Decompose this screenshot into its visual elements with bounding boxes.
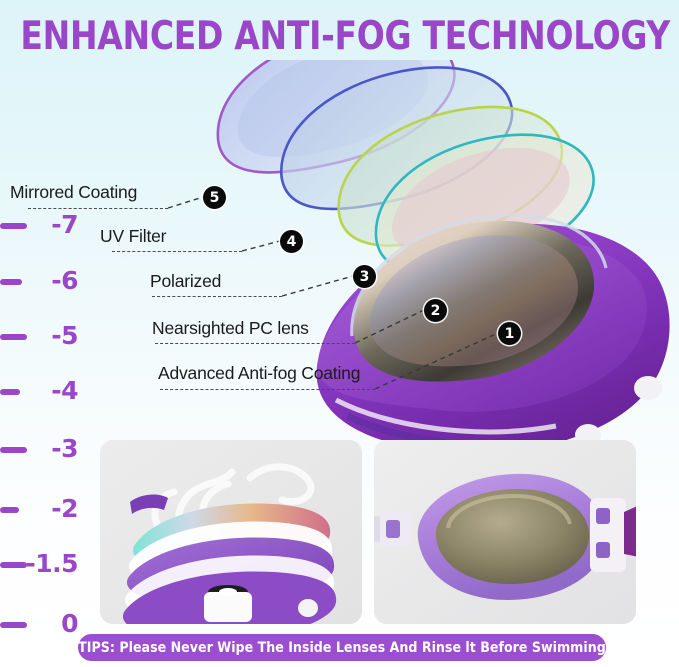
- diopter-value: -7: [0, 212, 78, 238]
- callout-leader-line: [152, 296, 282, 297]
- callout-label: UV Filter: [100, 226, 166, 247]
- diopter-value: -4: [0, 378, 78, 404]
- photo-mirrored-lens-closeup: [374, 440, 636, 624]
- tips-banner: TIPS: Please Never Wipe The Inside Lense…: [78, 634, 606, 661]
- tips-text: TIPS: Please Never Wipe The Inside Lense…: [78, 640, 606, 656]
- callout-label: Polarized: [150, 271, 221, 292]
- callout-badge-3: 3: [353, 265, 376, 288]
- callout-leader-line: [112, 251, 242, 252]
- callout-badge-4: 4: [280, 230, 303, 253]
- diopter-value: -6: [0, 268, 78, 294]
- callout-badge-1: 1: [498, 322, 521, 345]
- diopter-value: -3: [0, 436, 78, 462]
- diopter-row: -4: [0, 378, 100, 404]
- diopter-row: -1.5: [0, 551, 100, 577]
- callout-leader-line: [28, 208, 168, 209]
- diopter-row: -7: [0, 212, 100, 238]
- diopter-value: -2: [0, 496, 78, 522]
- diopter-row: -2: [0, 496, 100, 522]
- diopter-value: -5: [0, 323, 78, 349]
- callout-leader-line: [155, 343, 355, 344]
- callout-badge-5: 5: [203, 186, 226, 209]
- diopter-value: 0: [0, 611, 78, 637]
- photo-anti-fog-steam-demo: [100, 440, 362, 624]
- callout-leader-line: [160, 389, 375, 390]
- diopter-row: -6: [0, 268, 100, 294]
- page-title: ENHANCED ANTI-FOG TECHNOLOGY: [20, 14, 658, 59]
- callout-label: Mirrored Coating: [10, 182, 137, 203]
- infographic-root: ENHANCED ANTI-FOG TECHNOLOGY: [0, 0, 679, 667]
- diopter-row: -5: [0, 323, 100, 349]
- diopter-row: -3: [0, 436, 100, 462]
- callout-label: Advanced Anti-fog Coating: [158, 363, 360, 384]
- callout-label: Nearsighted PC lens: [152, 318, 309, 339]
- callout-badge-2: 2: [424, 299, 447, 322]
- diopter-row: 0: [0, 611, 100, 637]
- diopter-value: -1.5: [0, 551, 78, 577]
